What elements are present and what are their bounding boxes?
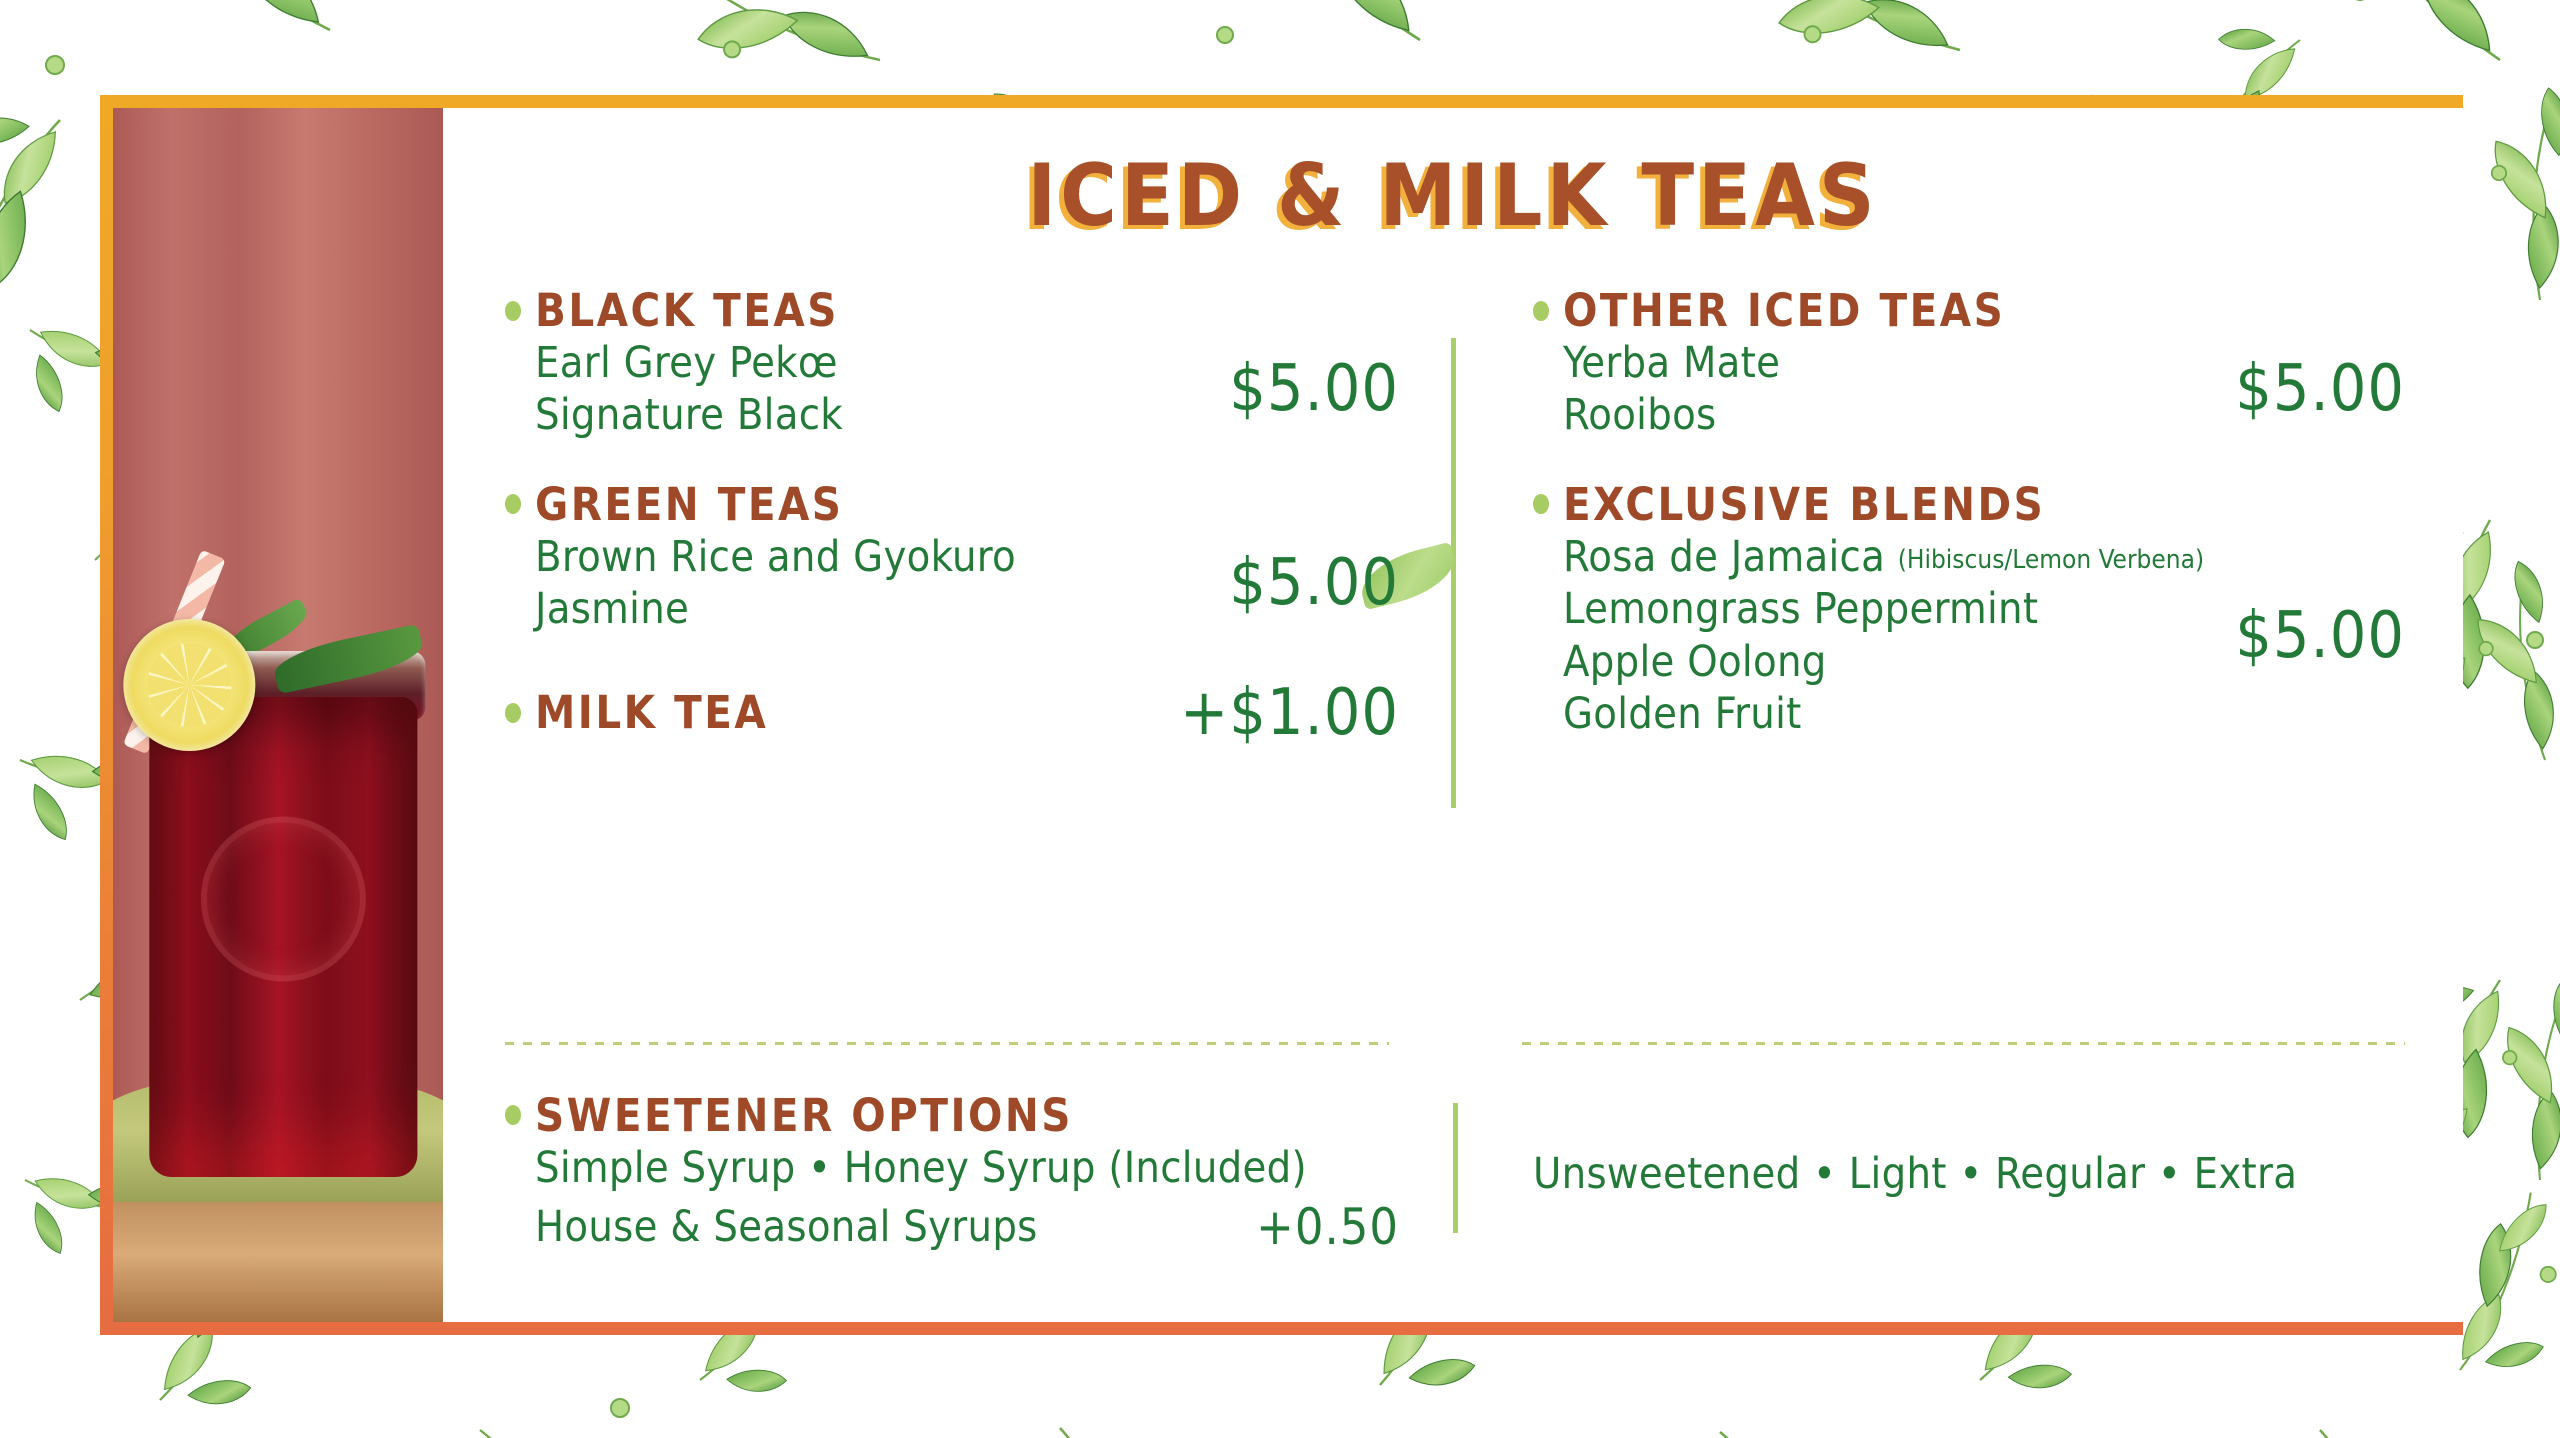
section-sweetener-options: SWEETENER OPTIONS Simple Syrup • Honey S… [505, 1093, 1455, 1256]
list-item: Earl Grey Pekœ [535, 337, 1229, 389]
sweetness-levels: Unsweetened • Light • Regular • Extra [1455, 1093, 2405, 1256]
jar-body [149, 697, 417, 1177]
jar-emboss [201, 816, 366, 981]
dashed-separator-right [1522, 1042, 2406, 1045]
left-column: BLACK TEAS Earl Grey Pekœ Signature Blac… [505, 288, 1455, 790]
list-item: Rooibos [1563, 389, 2235, 441]
list-item: Brown Rice and Gyokuro [535, 531, 1229, 583]
section-body: Earl Grey Pekœ Signature Black $5.00 [505, 337, 1399, 442]
item-list: Rosa de Jamaica (Hibiscus/Lemon Verbena)… [1563, 531, 2235, 741]
item-name: House & Seasonal Syrups [535, 1201, 1256, 1253]
section-exclusive-blends: EXCLUSIVE BLENDS Rosa de Jamaica (Hibisc… [1533, 482, 2405, 741]
bottom-vertical-divider [1453, 1103, 1458, 1233]
section-title: OTHER ICED TEAS [1563, 288, 2005, 333]
section-title: EXCLUSIVE BLENDS [1563, 482, 2045, 527]
section-body: Brown Rice and Gyokuro Jasmine $5.00 [505, 531, 1399, 636]
list-item: Rosa de Jamaica (Hibiscus/Lemon Verbena) [1563, 531, 2235, 583]
menu-card: ICED & MILK TEAS BLACK TEAS Earl Grey Pe… [443, 108, 2463, 1322]
list-item: Apple Oolong [1563, 636, 2235, 688]
section-heading-row: SWEETENER OPTIONS [505, 1093, 1399, 1138]
list-item: Golden Fruit [1563, 688, 2235, 740]
sweetness-levels-label: Unsweetened • Light • Regular • Extra [1533, 1149, 2297, 1199]
bullet-dot-icon [1533, 301, 1549, 321]
list-item: Simple Syrup • Honey Syrup (Included) [535, 1142, 1399, 1194]
bullet-dot-icon [505, 494, 521, 514]
iced-tea-photo [113, 108, 443, 1322]
price-label: +$1.00 [1180, 676, 1399, 750]
item-list: Yerba Mate Rooibos [1563, 337, 2235, 442]
dashed-separators [505, 1042, 2405, 1045]
section-black-teas: BLACK TEAS Earl Grey Pekœ Signature Blac… [505, 288, 1399, 442]
sweetener-priced-row: House & Seasonal Syrups +0.50 [535, 1198, 1399, 1256]
list-item: Lemongrass Peppermint [1563, 583, 2235, 635]
bottom-strip: SWEETENER OPTIONS Simple Syrup • Honey S… [443, 1042, 2463, 1256]
section-body: Yerba Mate Rooibos $5.00 [1533, 337, 2405, 442]
list-item: Jasmine [535, 583, 1229, 635]
list-item: Yerba Mate [1563, 337, 2235, 389]
item-note: (Hibiscus/Lemon Verbena) [1898, 545, 2204, 575]
list-item: Signature Black [535, 389, 1229, 441]
mason-jar [149, 697, 417, 1177]
price-label: +0.50 [1256, 1198, 1399, 1256]
section-title: GREEN TEAS [535, 482, 843, 527]
section-milk-tea: MILK TEA +$1.00 [505, 676, 1399, 750]
price-label: $5.00 [2235, 352, 2405, 426]
item-name: Rosa de Jamaica [1563, 532, 1885, 582]
page-title: ICED & MILK TEAS [443, 146, 2463, 246]
item-list: Earl Grey Pekœ Signature Black [535, 337, 1229, 442]
section-body: Simple Syrup • Honey Syrup (Included) Ho… [505, 1142, 1399, 1256]
bullet-dot-icon [505, 1105, 521, 1125]
bullet-dot-icon [505, 703, 521, 723]
section-title: BLACK TEAS [535, 288, 839, 333]
list-item: House & Seasonal Syrups [535, 1201, 1256, 1253]
section-body: Rosa de Jamaica (Hibiscus/Lemon Verbena)… [1533, 531, 2405, 741]
section-other-iced-teas: OTHER ICED TEAS Yerba Mate Rooibos $5.00 [1533, 288, 2405, 442]
section-heading-row: MILK TEA [505, 690, 1180, 735]
section-green-teas: GREEN TEAS Brown Rice and Gyokuro Jasmin… [505, 482, 1399, 636]
section-title: SWEETENER OPTIONS [535, 1093, 1073, 1138]
bullet-dot-icon [505, 301, 521, 321]
section-heading-row: OTHER ICED TEAS [1533, 288, 2405, 333]
price-label: $5.00 [1229, 546, 1399, 620]
item-list: Brown Rice and Gyokuro Jasmine [535, 531, 1229, 636]
bottom-columns: SWEETENER OPTIONS Simple Syrup • Honey S… [505, 1093, 2405, 1256]
section-heading-row: EXCLUSIVE BLENDS [1533, 482, 2405, 527]
right-column: OTHER ICED TEAS Yerba Mate Rooibos $5.00… [1455, 288, 2405, 790]
menu-columns: BLACK TEAS Earl Grey Pekœ Signature Blac… [443, 288, 2463, 790]
price-label: $5.00 [1229, 352, 1399, 426]
section-title: MILK TEA [535, 690, 768, 735]
section-heading-row: BLACK TEAS [505, 288, 1399, 333]
dashed-separator-left [505, 1042, 1389, 1045]
price-label: $5.00 [2235, 599, 2405, 673]
lemon-slice-icon [123, 619, 255, 751]
item-list: Simple Syrup • Honey Syrup (Included) Ho… [535, 1142, 1399, 1256]
bullet-dot-icon [1533, 494, 1549, 514]
section-heading-row: GREEN TEAS [505, 482, 1399, 527]
